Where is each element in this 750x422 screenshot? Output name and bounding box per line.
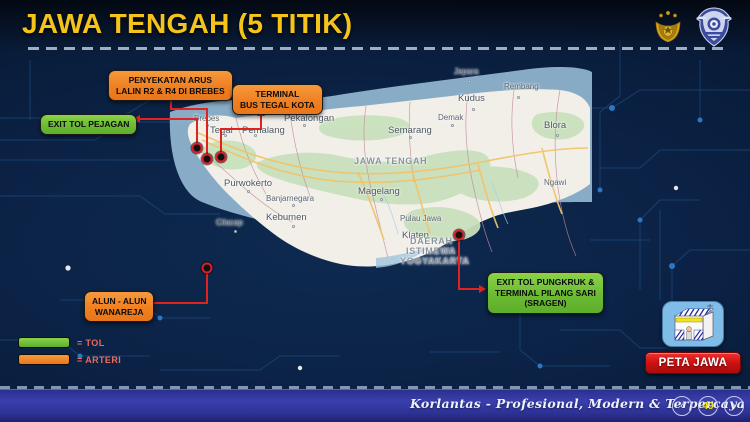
callout-line: EXIT TOL PUNGKRUK & <box>495 277 596 288</box>
callout-line: WANAREJA <box>92 307 146 318</box>
city-dot <box>247 190 250 193</box>
city-dot <box>468 80 471 83</box>
city-dot <box>409 136 412 139</box>
callout-line: PENYEKATAN ARUS <box>116 75 225 86</box>
leader-tegal-v1 <box>260 116 262 129</box>
leader-sragen-v <box>458 235 460 290</box>
map-marker-titik-1[interactable] <box>192 143 203 154</box>
leader-wanareja-h <box>152 302 208 304</box>
leader-brebes-h <box>170 108 208 110</box>
legend-row-tol: = TOL <box>18 336 121 349</box>
callout-line: TERMINAL PILANG SARI <box>495 288 596 299</box>
city-dot <box>292 225 295 228</box>
korlantas-emblem-icon <box>694 6 734 48</box>
legend-row-arteri: = ARTERI <box>18 353 121 366</box>
prev-slide-button[interactable]: ‹ <box>672 396 692 416</box>
map-marker-titik-5[interactable] <box>454 230 465 241</box>
next-slide-button[interactable]: › <box>724 396 744 416</box>
map-marker-titik-2[interactable] <box>202 154 213 165</box>
callout-line: LALIN R2 & R4 DI BREBES <box>116 86 225 97</box>
peta-jawa-button[interactable]: PETA JAWA <box>645 352 741 374</box>
city-dot <box>517 96 520 99</box>
city-dot <box>472 108 475 111</box>
page-title: JAWA TENGAH (5 TITIK) <box>22 8 352 40</box>
callout-exit-tol-pejagan[interactable]: EXIT TOL PEJAGAN <box>40 114 137 135</box>
title-divider <box>28 47 728 50</box>
callout-line: TERMINAL <box>240 89 315 100</box>
leader-sragen-h <box>458 288 480 290</box>
leader-sragen-arrow <box>479 285 486 293</box>
city-dot <box>451 124 454 127</box>
leader-pejagan-h <box>140 118 198 120</box>
callout-penyekatan-brebes[interactable]: PENYEKATAN ARUS LALIN R2 & R4 DI BREBES <box>108 70 233 101</box>
legend-swatch-arteri <box>18 354 70 365</box>
pos-pantau-icon <box>663 302 723 346</box>
city-dot <box>292 204 295 207</box>
legend: = TOL = ARTERI <box>18 336 121 370</box>
callout-line: ALUN - ALUN <box>92 296 146 307</box>
city-dot <box>254 134 257 137</box>
city-dot <box>380 198 383 201</box>
map-marker-titik-4[interactable] <box>202 263 213 274</box>
slide-number-badge[interactable]: 49 <box>698 396 718 416</box>
footer-tagline: Korlantas - Profesional, Modern & Terper… <box>410 396 745 411</box>
leader-brebes-v2 <box>206 108 208 158</box>
callout-exit-tol-pungkruk-sragen[interactable]: EXIT TOL PUNGKRUK & TERMINAL PILANG SARI… <box>487 272 604 314</box>
legend-label-tol: = TOL <box>77 338 105 348</box>
city-dot <box>556 134 559 137</box>
city-dot <box>303 124 306 127</box>
city-dot <box>234 230 237 233</box>
callout-alun-alun-wanareja[interactable]: ALUN - ALUN WANAREJA <box>84 291 154 322</box>
leader-brebes-v1 <box>170 100 172 110</box>
callout-line: (SRAGEN) <box>495 298 596 309</box>
city-dot <box>224 134 227 137</box>
peta-jawa-button-label: PETA JAWA <box>659 357 728 369</box>
callout-terminal-bus-tegal-kota[interactable]: TERMINAL BUS TEGAL KOTA <box>232 84 323 115</box>
peta-jawa-icon[interactable] <box>662 301 724 347</box>
map-marker-titik-3[interactable] <box>216 152 227 163</box>
polri-emblem-icon <box>648 6 688 46</box>
slide-root: Brebes Tegal Pemalang Pekalongan Semaran… <box>0 0 750 422</box>
callout-line: EXIT TOL PEJAGAN <box>48 119 129 130</box>
legend-swatch-tol <box>18 337 70 348</box>
legend-label-arteri: = ARTERI <box>77 355 121 365</box>
callout-line: BUS TEGAL KOTA <box>240 100 315 111</box>
leader-tegal-h <box>220 128 262 130</box>
